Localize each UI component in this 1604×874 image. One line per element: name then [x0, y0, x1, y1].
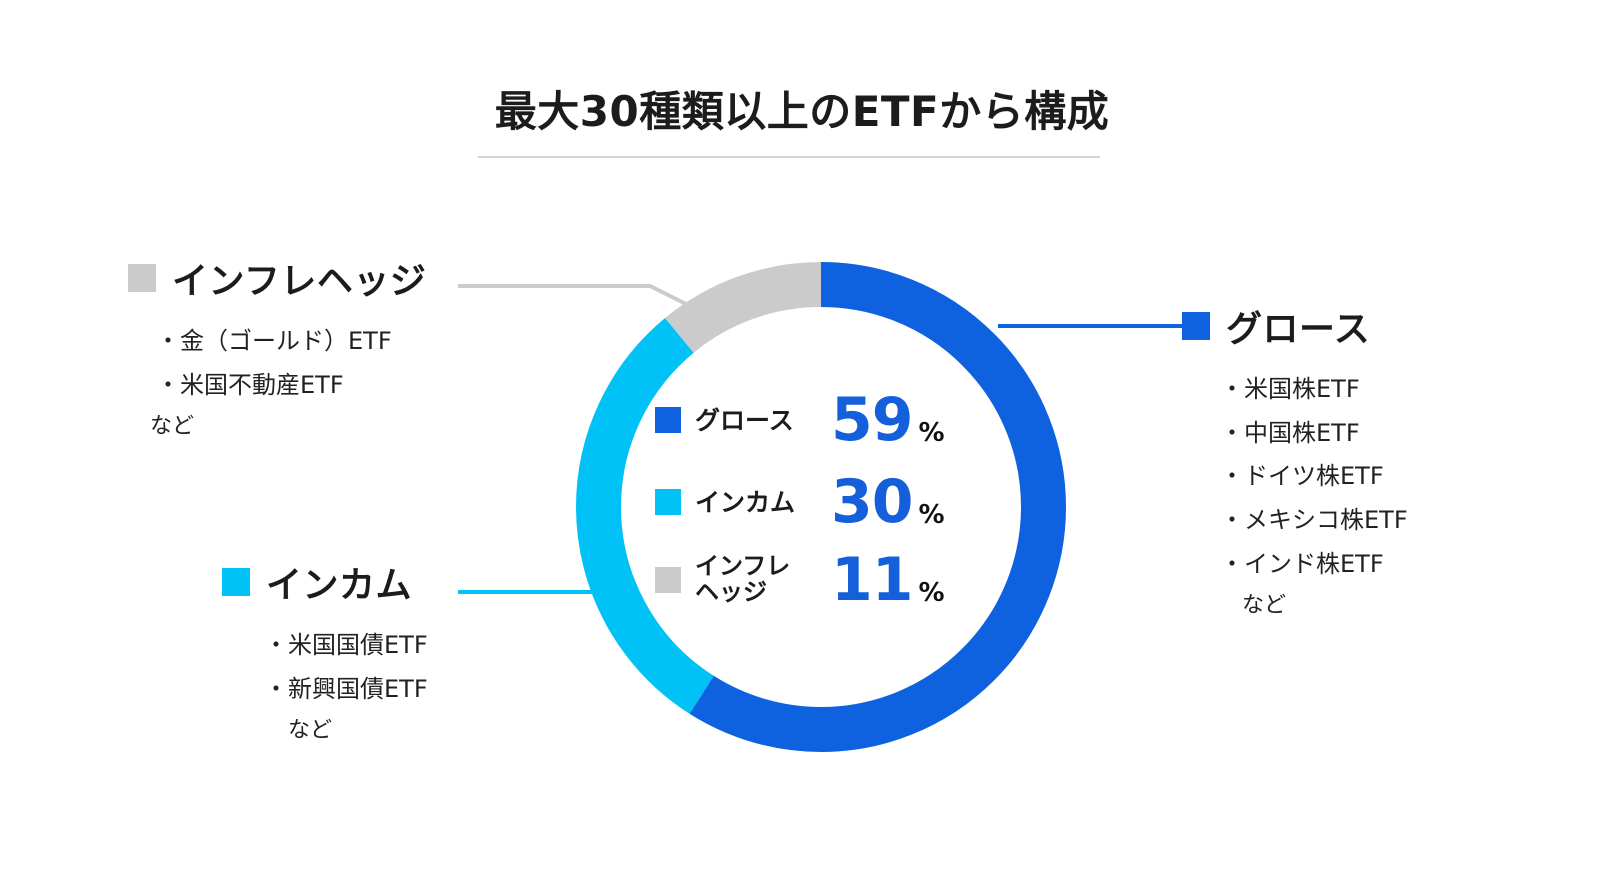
callout-growth: グロース ・米国株ETF ・中国株ETF ・ドイツ株ETF ・メキシコ株ETF …: [1182, 300, 1408, 626]
callout-swatch-growth: [1182, 312, 1210, 340]
center-legend-row-inflation: インフレ ヘッジ 11 %: [655, 548, 995, 612]
legend-label-inflation: インフレ ヘッジ: [695, 554, 827, 606]
slide-canvas: 最大30種類以上のETFから構成 グロース 59 %: [0, 0, 1604, 874]
callout-inflation-list: ・金（ゴールド）ETF ・米国不動産ETF: [128, 320, 426, 407]
center-legend-row-growth: グロース 59 %: [655, 388, 995, 452]
legend-label-inflation-line1: インフレ: [695, 552, 790, 580]
callout-title-income: インカム: [266, 556, 412, 608]
title-divider: [478, 156, 1100, 158]
list-item: ・メキシコ株ETF: [1220, 499, 1408, 543]
callout-inflation-more: など: [128, 407, 426, 447]
callout-swatch-income: [222, 568, 250, 596]
list-item: ・米国不動産ETF: [156, 364, 426, 408]
callout-growth-list: ・米国株ETF ・中国株ETF ・ドイツ株ETF ・メキシコ株ETF ・インド株…: [1182, 368, 1408, 586]
legend-unit-growth: %: [919, 418, 945, 452]
callout-income-more: など: [222, 711, 428, 751]
legend-swatch-growth: [655, 407, 681, 433]
callout-inflation-hedge: インフレヘッジ ・金（ゴールド）ETF ・米国不動産ETF など: [128, 252, 426, 447]
list-item: ・米国国債ETF: [264, 624, 428, 668]
callout-income-list: ・米国国債ETF ・新興国債ETF: [222, 624, 428, 711]
donut-center-legend: グロース 59 % インカム 30 % インフレ ヘッジ 11 %: [655, 388, 995, 628]
legend-swatch-income: [655, 489, 681, 515]
list-item: ・米国株ETF: [1220, 368, 1408, 412]
callout-income: インカム ・米国国債ETF ・新興国債ETF など: [222, 556, 428, 751]
list-item: ・インド株ETF: [1220, 543, 1408, 587]
legend-unit-income: %: [919, 500, 945, 534]
list-item: ・ドイツ株ETF: [1220, 455, 1408, 499]
callout-title-inflation: インフレヘッジ: [172, 252, 426, 304]
page-title: 最大30種類以上のETFから構成: [0, 78, 1604, 139]
legend-label-inflation-line2: ヘッジ: [695, 578, 767, 606]
list-item: ・中国株ETF: [1220, 412, 1408, 456]
callout-inflation-header: インフレヘッジ: [128, 252, 426, 304]
legend-value-income: 30: [831, 472, 913, 532]
callout-swatch-inflation: [128, 264, 156, 292]
legend-label-income: インカム: [695, 489, 827, 516]
legend-value-inflation: 11: [831, 550, 913, 610]
list-item: ・金（ゴールド）ETF: [156, 320, 426, 364]
center-legend-row-income: インカム 30 %: [655, 470, 995, 534]
callout-title-growth: グロース: [1226, 300, 1370, 352]
callout-growth-header: グロース: [1182, 300, 1408, 352]
list-item: ・新興国債ETF: [264, 668, 428, 712]
legend-label-growth: グロース: [695, 407, 827, 434]
callout-growth-more: など: [1182, 586, 1408, 626]
legend-swatch-inflation: [655, 567, 681, 593]
legend-value-growth: 59: [831, 390, 913, 450]
legend-unit-inflation: %: [919, 578, 945, 612]
callout-income-header: インカム: [222, 556, 428, 608]
